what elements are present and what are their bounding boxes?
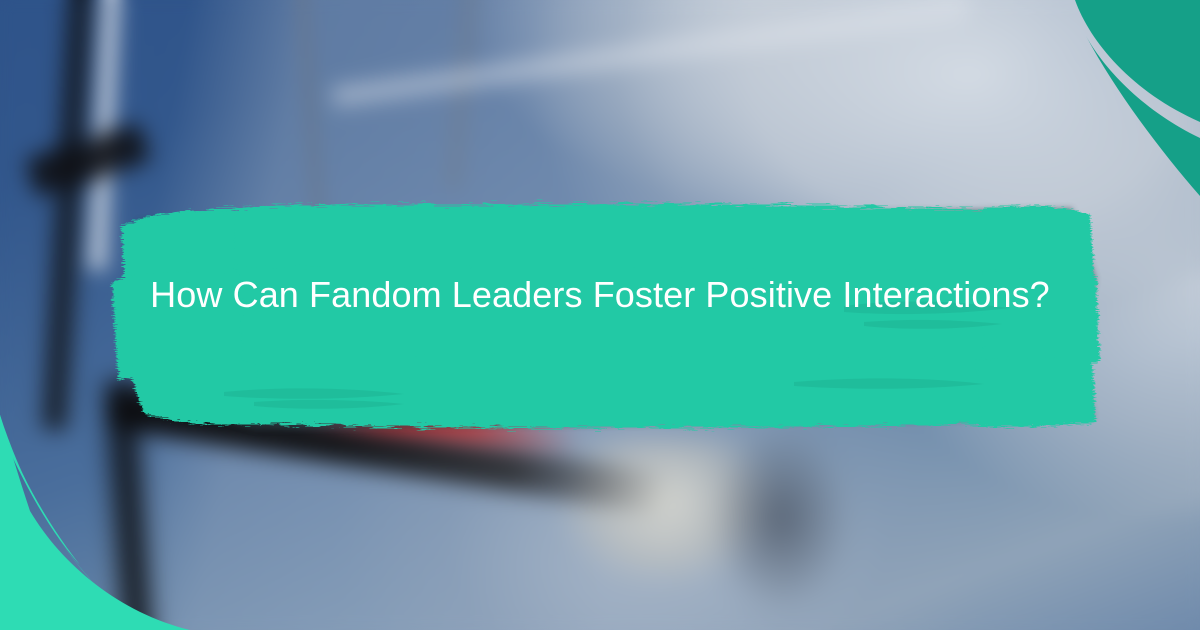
- social-card: How Can Fandom Leaders Foster Positive I…: [0, 0, 1200, 630]
- page-title: How Can Fandom Leaders Foster Positive I…: [150, 268, 1050, 322]
